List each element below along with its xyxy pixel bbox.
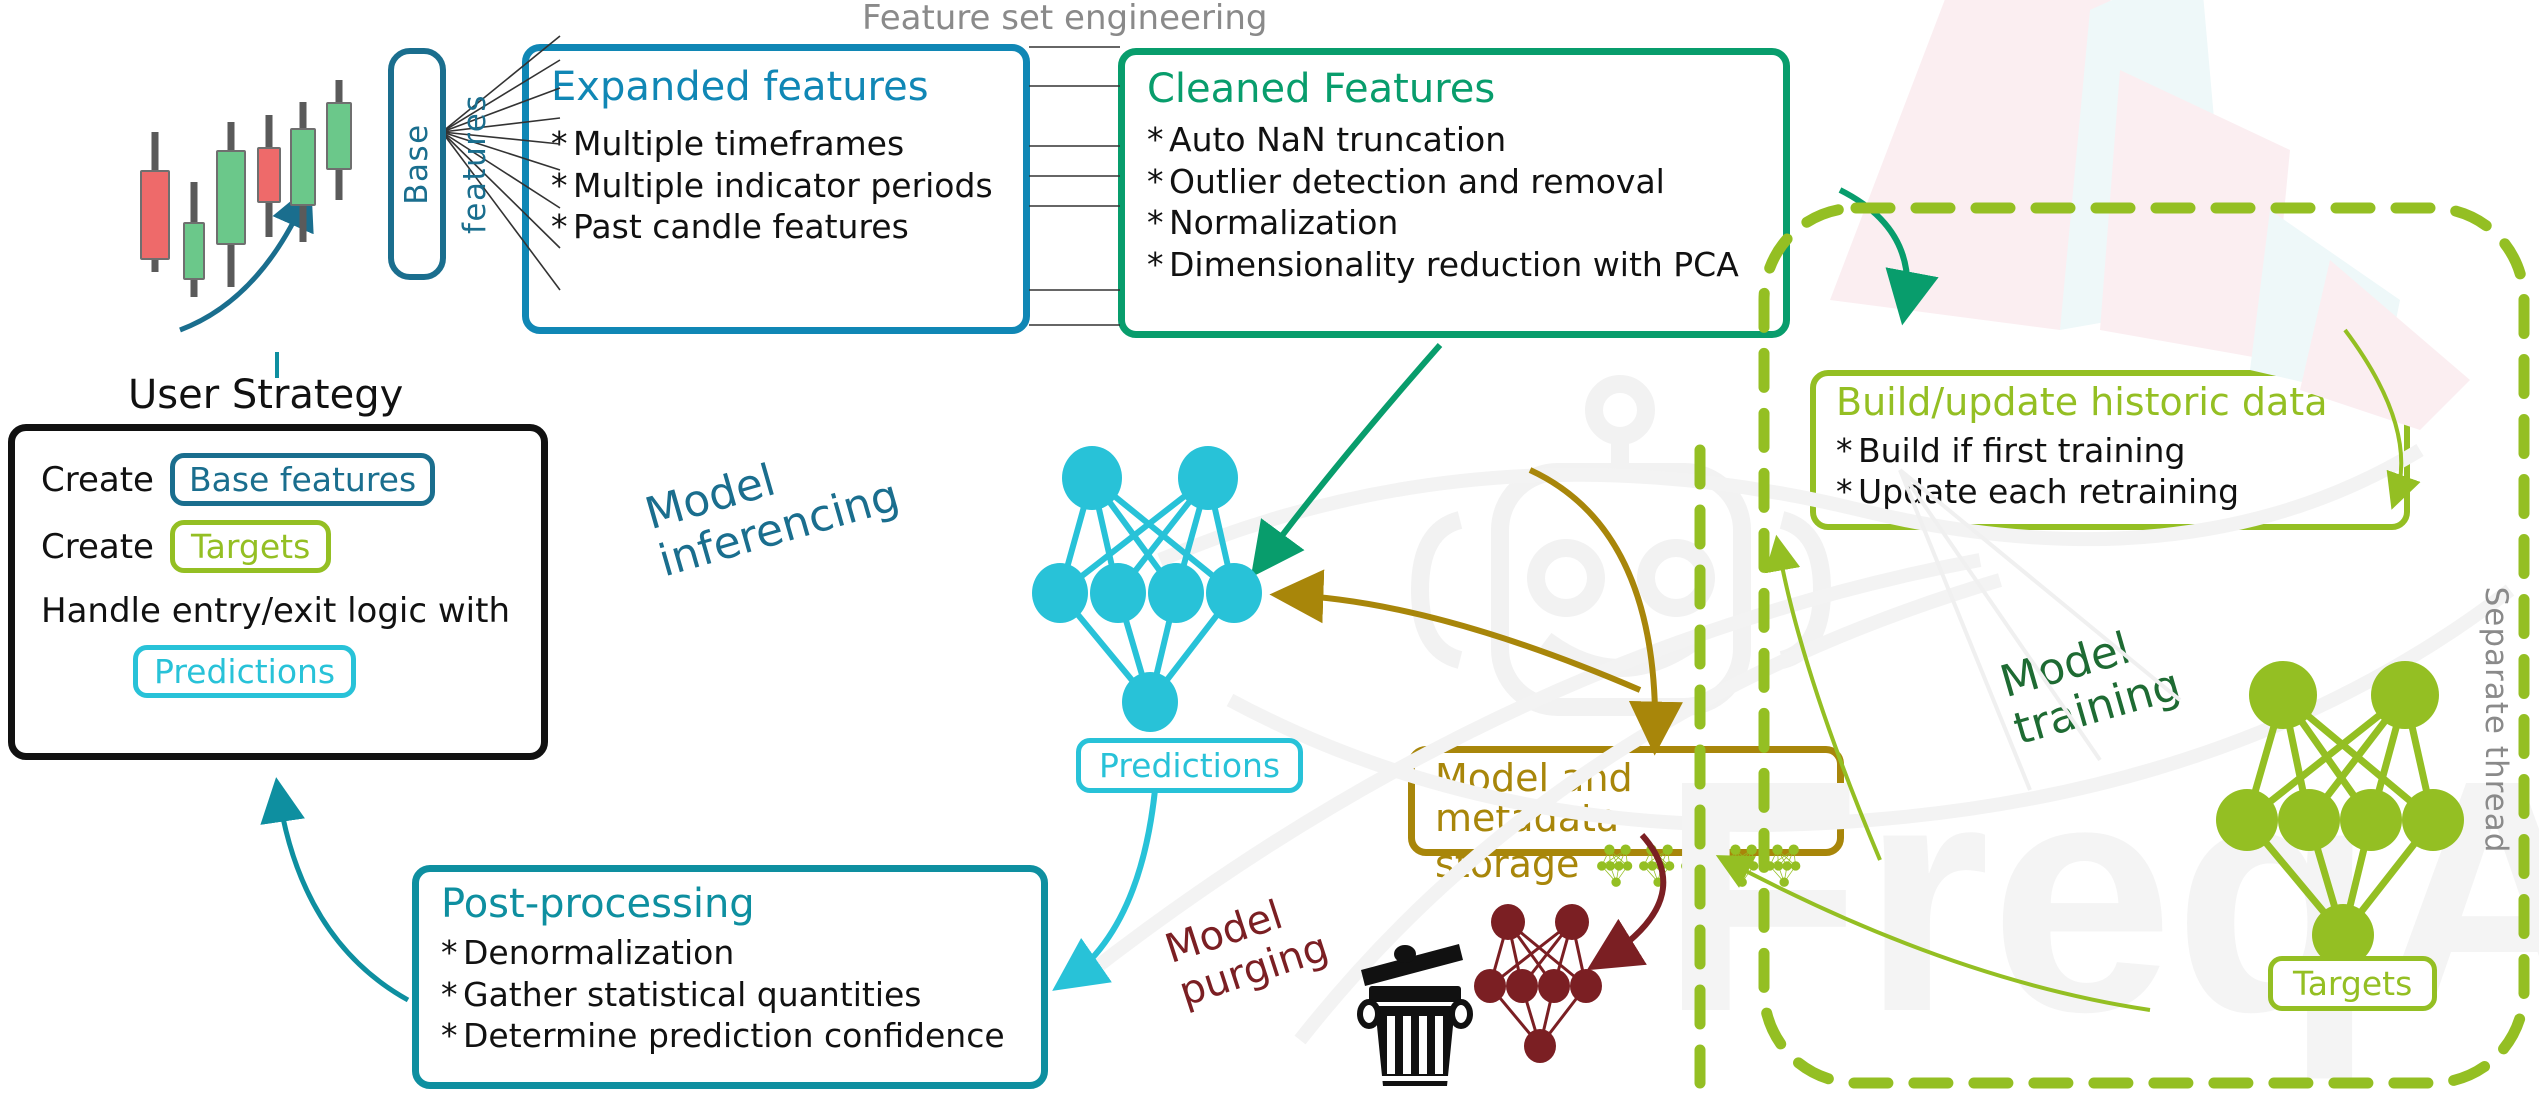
candle-body-up: [183, 222, 205, 280]
base-features-label: Base features: [388, 48, 446, 280]
candle-body-up: [216, 150, 246, 245]
feature-box-connectors-lower: [1029, 290, 1120, 325]
candle-body-down: [257, 147, 281, 203]
base-features-vertical-badge[interactable]: Base features: [388, 48, 446, 280]
candle-6: [326, 80, 352, 200]
neural-network-icon: [2205, 645, 2495, 975]
candle-body-down: [140, 170, 170, 260]
candle-body-up: [290, 128, 316, 206]
candle-4: [257, 115, 281, 237]
neural-network-icon: [1468, 898, 1618, 1066]
candle-2: [183, 182, 205, 297]
neural-network-icon: [1020, 430, 1290, 740]
trash-can-icon: [1355, 918, 1475, 1090]
predictions-net-badge[interactable]: Predictions: [1076, 738, 1303, 793]
diagram-canvas: FreqAI: [0, 0, 2539, 1104]
targets-net-badge[interactable]: Targets: [2268, 956, 2437, 1011]
feature-box-connectors: [1029, 47, 1120, 206]
candle-5: [290, 102, 316, 242]
targets-net-label: Targets: [2268, 956, 2437, 1011]
polygon-watermark: [1830, 0, 2470, 430]
arrow-postprocessing-to-strategy: [278, 790, 408, 1000]
candle-1: [140, 132, 170, 272]
candlestick-chart-icon: [140, 80, 330, 290]
candle-3: [216, 122, 246, 287]
predictions-net-label: Predictions: [1076, 738, 1303, 793]
candle-body-up: [326, 102, 352, 170]
